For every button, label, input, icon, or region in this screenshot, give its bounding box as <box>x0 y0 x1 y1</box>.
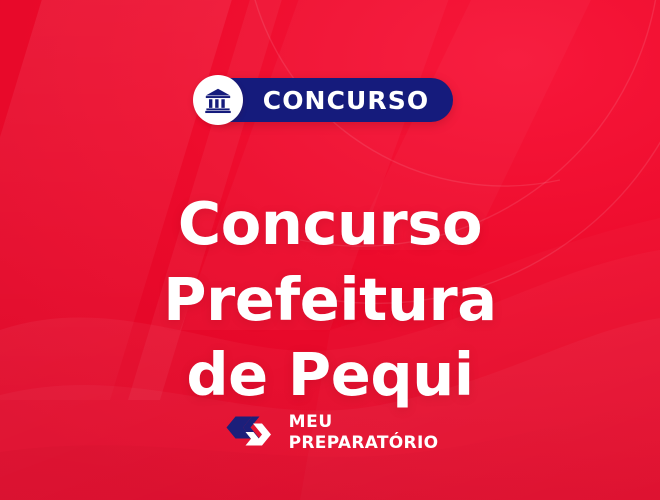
bank-building-icon <box>193 75 243 125</box>
title-line-1: Concurso Prefeitura <box>40 186 620 337</box>
page-title: Concurso Prefeitura de Pequi <box>40 186 620 413</box>
badge-label: CONCURSO <box>263 88 429 113</box>
brand-footer: MEU PREPARATÓRIO <box>0 410 660 456</box>
promo-banner: CONCURSO Concurso Prefeitura de Pequi ME… <box>0 0 660 500</box>
title-line-2: de Pequi <box>40 337 620 413</box>
brand-wordmark: MEU PREPARATÓRIO <box>289 414 439 452</box>
brand-line-2: PREPARATÓRIO <box>289 435 439 452</box>
concurso-badge: CONCURSO <box>207 78 453 122</box>
badge-container: CONCURSO <box>0 78 660 122</box>
meu-preparatorio-logo-icon <box>222 410 278 456</box>
brand-line-1: MEU <box>289 414 439 431</box>
